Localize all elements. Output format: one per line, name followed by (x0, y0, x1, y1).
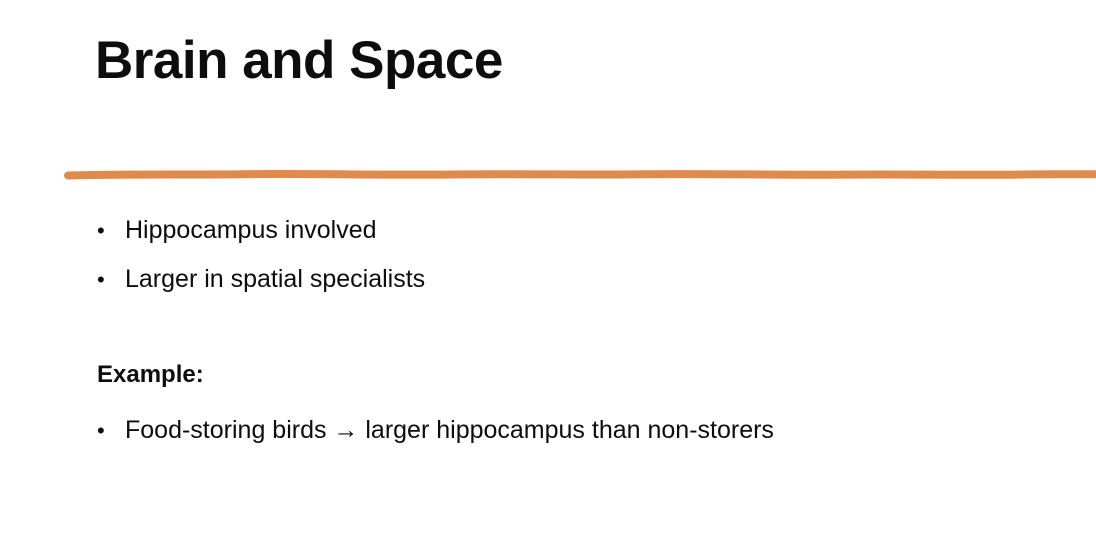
list-item-label: Food-storing birds → larger hippocampus … (125, 415, 774, 445)
page-title: Brain and Space (95, 31, 503, 92)
list-item: • Larger in spatial specialists (97, 264, 425, 294)
orange-divider-line (62, 158, 1096, 188)
list-item-label: Hippocampus involved (125, 215, 377, 245)
example-heading: Example: (97, 361, 204, 390)
bullet-marker-icon: • (97, 218, 125, 244)
bullet-marker-icon: • (97, 267, 125, 293)
list-item: • Hippocampus involved (97, 215, 377, 245)
bullet-marker-icon: • (97, 418, 125, 444)
list-item-label: Larger in spatial specialists (125, 264, 425, 294)
list-item: • Food-storing birds → larger hippocampu… (97, 415, 774, 445)
slide: Brain and Space • Hippocampus involved •… (0, 0, 1096, 558)
